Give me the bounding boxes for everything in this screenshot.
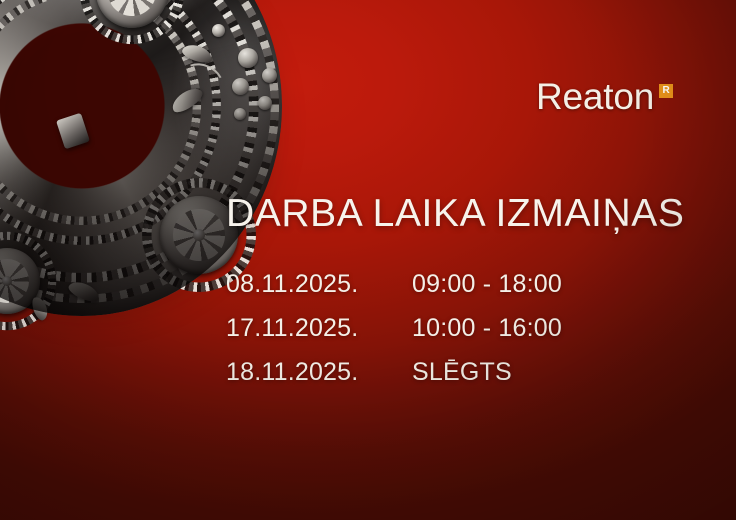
- schedule-row: 18.11.2025. SLĒGTS: [226, 356, 562, 388]
- page-title: DARBA LAIKA IZMAIŅAS: [226, 192, 684, 236]
- brooch-pellet: [212, 24, 225, 37]
- schedule-hours: SLĒGTS: [412, 356, 512, 388]
- brooch-pellet: [238, 48, 258, 68]
- schedule-date: 17.11.2025.: [226, 312, 412, 344]
- working-hours-banner: Reaton R DARBA LAIKA IZMAIŅAS 08.11.2025…: [0, 0, 736, 520]
- schedule-date: 08.11.2025.: [226, 268, 412, 300]
- logo-wordmark: Reaton: [536, 78, 654, 116]
- schedule-date: 18.11.2025.: [226, 356, 412, 388]
- schedule-hours: 10:00 - 16:00: [412, 312, 562, 344]
- reaton-logo: Reaton R: [536, 78, 673, 116]
- brooch-pellet: [234, 108, 246, 120]
- registered-trademark-icon: R: [659, 84, 673, 98]
- brooch-pellet: [258, 96, 272, 110]
- schedule-row: 17.11.2025. 10:00 - 16:00: [226, 312, 562, 344]
- brooch-pellet: [262, 68, 277, 83]
- brooch-pellet: [232, 78, 249, 95]
- schedule-hours: 09:00 - 18:00: [412, 268, 562, 300]
- schedule-list: 08.11.2025. 09:00 - 18:00 17.11.2025. 10…: [226, 268, 562, 388]
- schedule-row: 08.11.2025. 09:00 - 18:00: [226, 268, 562, 300]
